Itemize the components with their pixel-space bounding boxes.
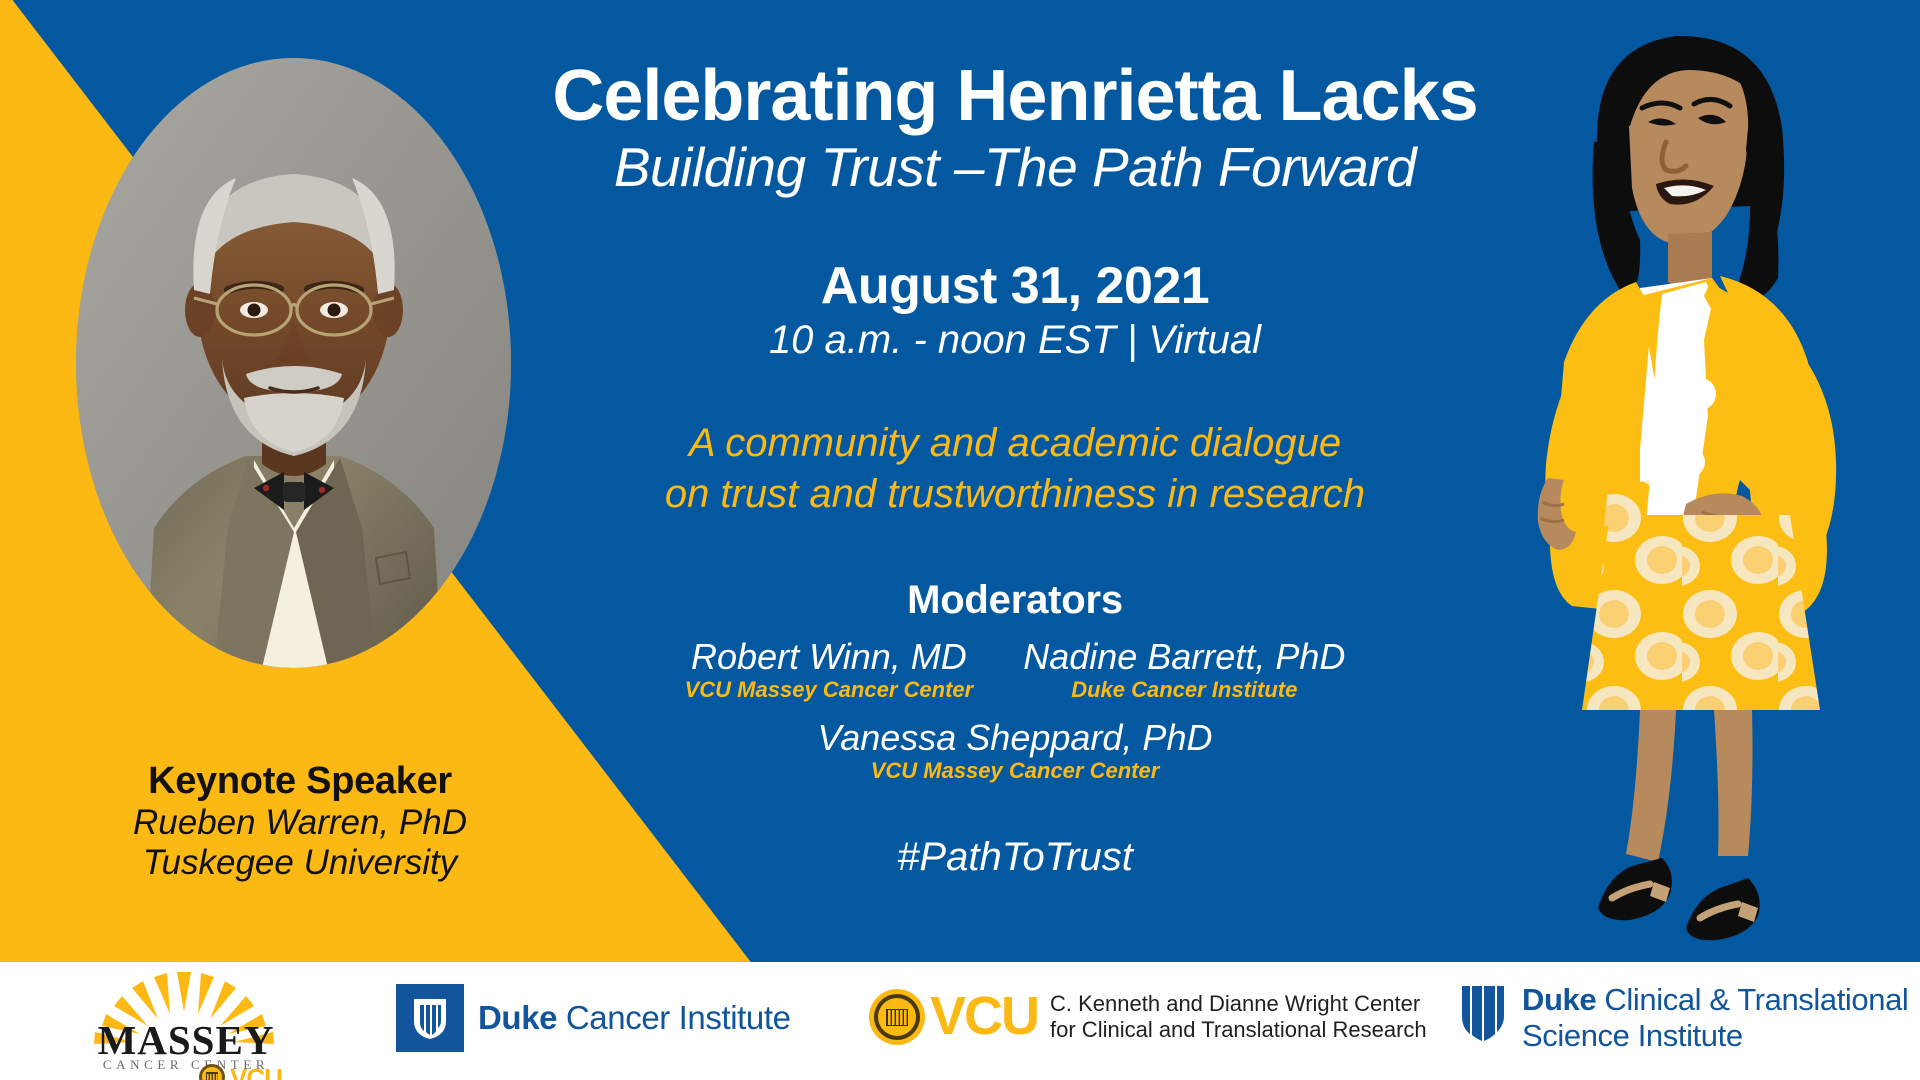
footer-logo-bar: MASSEY CANCER CENTER VCU [0,962,1920,1080]
vcu-seal-icon [868,988,926,1046]
keynote-speaker-portrait [76,58,511,668]
vcu-wordmark: VCU [930,991,1038,1042]
moderator-name: Robert Winn, MD [691,637,967,677]
duke-shield-icon [1458,982,1510,1044]
moderator-organization: Duke Cancer Institute [1071,677,1297,702]
logo-duke-cancer-institute: Duke Cancer Institute [396,984,791,1052]
event-hashtag: #PathToTrust [510,835,1520,880]
shoe [1598,858,1672,920]
event-date: August 31, 2021 [510,259,1520,314]
vcu-badge: VCU [199,1063,282,1080]
shoe [1686,878,1760,940]
tagline-line-1: A community and academic dialogue [510,418,1520,469]
moderator-name: Vanessa Sheppard, PhD [818,718,1213,758]
moderator-organization: VCU Massey Cancer Center [685,677,974,702]
moderator-name: Nadine Barrett, PhD [1023,637,1345,677]
massey-logo-svg: MASSEY CANCER CENTER VCU [46,968,326,1080]
ctsi-line-2: Science Institute [1522,1018,1743,1053]
lacks-figure-svg [1490,10,1920,960]
main-content-column: Celebrating Henrietta Lacks Building Tru… [510,0,1520,962]
vcu-center-name: C. Kenneth and Dianne Wright Center for … [1050,991,1427,1043]
duke-regular-words: Cancer Institute [557,999,790,1036]
ctsi-line-1: Clinical & Translational [1596,982,1908,1017]
tagline-line-2: on trust and trustworthiness in research [510,469,1520,520]
vcu-center-line-2: for Clinical and Translational Research [1050,1017,1427,1043]
svg-text:VCU: VCU [230,1063,282,1080]
portrait-photo [76,58,511,668]
logo-massey-cancer-center: MASSEY CANCER CENTER VCU [46,968,326,1080]
logo-vcu-wright-center: VCU C. Kenneth and Dianne Wright Center … [868,988,1427,1046]
moderator-organization: VCU Massey Cancer Center [871,758,1160,783]
moderator-item: Vanessa Sheppard, PhD VCU Massey Cancer … [510,718,1520,783]
vcu-center-line-1: C. Kenneth and Dianne Wright Center [1050,991,1427,1017]
duke-bold-word: Duke [1522,982,1596,1017]
logo-duke-ctsi: Duke Clinical & Translational Science In… [1458,982,1908,1054]
duke-bold-word: Duke [478,999,557,1036]
moderator-item: Robert Winn, MD VCU Massey Cancer Center [685,637,974,702]
duke-ctsi-wordmark: Duke Clinical & Translational Science In… [1522,982,1908,1054]
jacket-button [1675,447,1705,477]
jacket-button [1684,378,1716,410]
moderator-item: Nadine Barrett, PhD Duke Cancer Institut… [1023,637,1345,702]
moderators-heading: Moderators [510,578,1520,623]
duke-cancer-institute-wordmark: Duke Cancer Institute [478,999,791,1037]
henrietta-lacks-illustration [1490,10,1920,960]
event-time: 10 a.m. - noon EST | Virtual [510,318,1520,362]
page-subtitle: Building Trust –The Path Forward [510,139,1520,197]
event-poster: Keynote Speaker Rueben Warren, PhD Tuske… [0,0,1920,1080]
duke-shield-icon [396,984,464,1052]
moderators-row: Robert Winn, MD VCU Massey Cancer Center… [510,637,1520,702]
page-title: Celebrating Henrietta Lacks [510,60,1520,133]
event-tagline: A community and academic dialogue on tru… [510,418,1520,520]
